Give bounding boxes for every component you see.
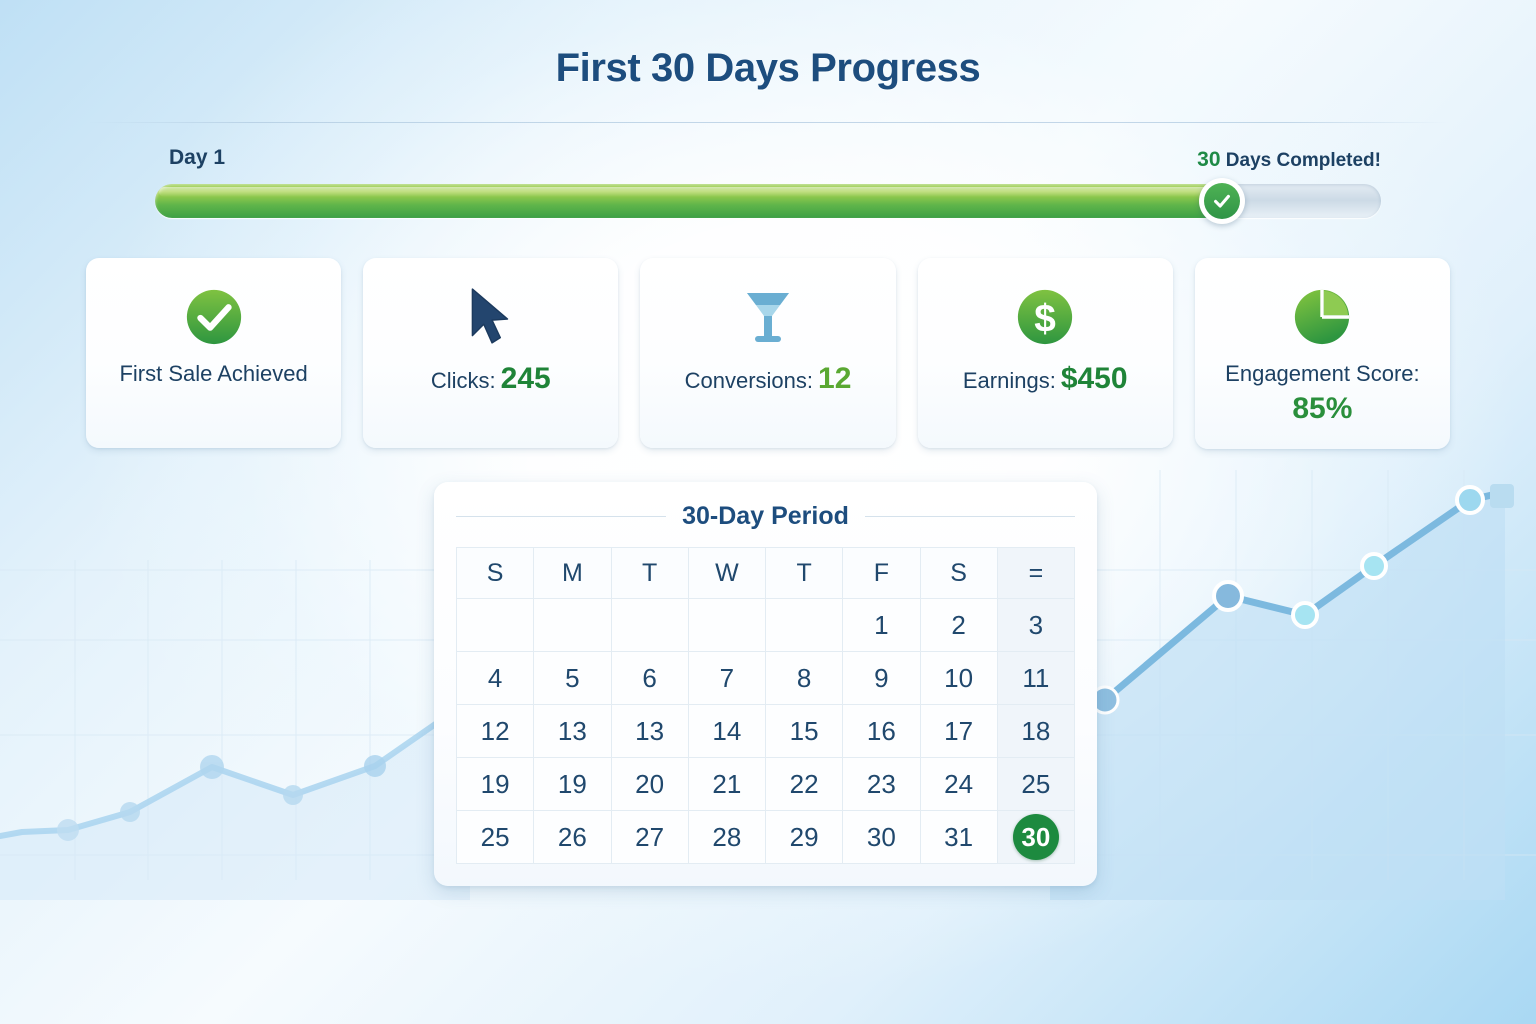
calendar-card: 30-Day Period SMTWTFS= 12345678910111213… — [434, 482, 1097, 886]
calendar-day-cell[interactable]: 30 — [843, 811, 920, 864]
progress-end-number: 30 — [1197, 148, 1220, 171]
calendar-day-cell[interactable]: 23 — [843, 758, 920, 811]
progress-track[interactable] — [155, 184, 1381, 218]
progress-start-label: Day 1 — [169, 146, 225, 170]
calendar-day-empty — [611, 599, 688, 652]
title-divider — [88, 122, 1448, 123]
calendar-day-cell[interactable]: 10 — [920, 652, 997, 705]
calendar-day-cell[interactable]: 24 — [920, 758, 997, 811]
stat-card-first-sale[interactable]: First Sale Achieved — [86, 258, 341, 448]
calendar-rule-left — [456, 516, 666, 517]
calendar-day-cell[interactable]: 5 — [534, 652, 611, 705]
calendar-day-cell[interactable]: 15 — [766, 705, 843, 758]
calendar-weekday-2: T — [611, 548, 688, 599]
calendar-weekday-0: S — [457, 548, 534, 599]
calendar-day-cell[interactable]: 27 — [611, 811, 688, 864]
calendar-day-highlight-badge: 30 — [1013, 814, 1059, 860]
calendar-day-cell[interactable]: 4 — [457, 652, 534, 705]
calendar-day-empty — [688, 599, 765, 652]
stat-card-label: Earnings:$450 — [959, 360, 1132, 398]
calendar-day-cell[interactable]: 12 — [457, 705, 534, 758]
calendar-rule-right — [865, 516, 1075, 517]
progress-end-text: Days Completed! — [1221, 150, 1381, 171]
calendar-day-cell[interactable]: 20 — [611, 758, 688, 811]
calendar-day-empty — [534, 599, 611, 652]
calendar-day-empty — [457, 599, 534, 652]
calendar-week-row: 123 — [457, 599, 1075, 652]
calendar-day-cell[interactable]: 21 — [688, 758, 765, 811]
calendar-day-cell[interactable]: 25 — [457, 811, 534, 864]
stat-value-text: 245 — [501, 362, 551, 395]
calendar-day-cell[interactable]: 3 — [997, 599, 1074, 652]
calendar-weekday-6: S — [920, 548, 997, 599]
stat-label-text: Clicks: — [431, 368, 496, 393]
calendar-day-cell[interactable]: 16 — [843, 705, 920, 758]
calendar-week-row: 2526272829303130 — [457, 811, 1075, 864]
stat-card-label: Engagement Score:85% — [1221, 360, 1423, 429]
cursor-arrow-icon — [462, 284, 520, 350]
stat-card-label: First Sale Achieved — [115, 360, 311, 388]
calendar-day-cell[interactable]: 28 — [688, 811, 765, 864]
calendar-day-cell[interactable]: 19 — [457, 758, 534, 811]
calendar-day-empty — [766, 599, 843, 652]
calendar-day-cell[interactable]: 31 — [920, 811, 997, 864]
stat-card-conversions[interactable]: Conversions:12 — [640, 258, 895, 448]
stat-label-text: Conversions: — [685, 368, 813, 393]
pie-chart-icon — [1291, 284, 1353, 350]
calendar-day-cell[interactable]: 1 — [843, 599, 920, 652]
calendar-grid: SMTWTFS= 1234567891011121313141516171819… — [456, 547, 1075, 864]
calendar-header: 30-Day Period — [456, 502, 1075, 531]
stat-card-label: Conversions:12 — [681, 360, 856, 398]
check-circle-icon — [183, 284, 245, 350]
calendar-day-cell[interactable]: 17 — [920, 705, 997, 758]
stat-value-text: 85% — [1225, 390, 1419, 428]
stat-card-label: Clicks:245 — [427, 360, 555, 398]
calendar-weekday-row: SMTWTFS= — [457, 548, 1075, 599]
progress-section: Day 1 30 Days Completed! — [155, 142, 1381, 237]
calendar-day-cell[interactable]: 22 — [766, 758, 843, 811]
calendar-week-row: 1213131415161718 — [457, 705, 1075, 758]
calendar-day-cell[interactable]: 14 — [688, 705, 765, 758]
stat-label-text: Earnings: — [963, 368, 1056, 393]
calendar-weekday-5: F — [843, 548, 920, 599]
calendar-day-cell[interactable]: 25 — [997, 758, 1074, 811]
calendar-day-cell[interactable]: 9 — [843, 652, 920, 705]
calendar-title: 30-Day Period — [682, 502, 849, 531]
calendar-day-selected[interactable]: 30 — [997, 811, 1074, 864]
stat-card-earnings[interactable]: $ Earnings:$450 — [918, 258, 1173, 448]
stat-label-text: First Sale Achieved — [119, 361, 307, 386]
calendar-day-cell[interactable]: 2 — [920, 599, 997, 652]
calendar-day-cell[interactable]: 8 — [766, 652, 843, 705]
calendar-day-cell[interactable]: 19 — [534, 758, 611, 811]
calendar-week-row: 4567891011 — [457, 652, 1075, 705]
stat-card-engagement[interactable]: Engagement Score:85% — [1195, 258, 1450, 449]
calendar-day-cell[interactable]: 13 — [611, 705, 688, 758]
calendar-day-cell[interactable]: 13 — [534, 705, 611, 758]
stat-value-text: 12 — [818, 362, 851, 395]
stat-cards-row: First Sale Achieved Clicks:245 Conversio… — [86, 258, 1450, 449]
calendar-week-row: 1919202122232425 — [457, 758, 1075, 811]
funnel-icon — [739, 284, 797, 350]
calendar-weekday-3: W — [688, 548, 765, 599]
stat-label-text: Engagement Score: — [1225, 361, 1419, 386]
page-title: First 30 Days Progress — [0, 46, 1536, 91]
calendar-weekday-7: = — [997, 548, 1074, 599]
calendar-day-cell[interactable]: 6 — [611, 652, 688, 705]
dollar-circle-icon: $ — [1014, 284, 1076, 350]
calendar-day-cell[interactable]: 29 — [766, 811, 843, 864]
progress-end-label: 30 Days Completed! — [1197, 148, 1381, 172]
calendar-day-cell[interactable]: 7 — [688, 652, 765, 705]
stat-value-text: $450 — [1061, 362, 1128, 395]
svg-text:$: $ — [1034, 298, 1056, 341]
calendar-day-cell[interactable]: 18 — [997, 705, 1074, 758]
calendar-day-cell[interactable]: 26 — [534, 811, 611, 864]
calendar-day-cell[interactable]: 11 — [997, 652, 1074, 705]
progress-fill — [155, 184, 1222, 218]
check-circle-icon — [1204, 183, 1240, 219]
calendar-weekday-1: M — [534, 548, 611, 599]
calendar-weekday-4: T — [766, 548, 843, 599]
stat-card-clicks[interactable]: Clicks:245 — [363, 258, 618, 448]
progress-marker-handle[interactable] — [1199, 178, 1245, 224]
